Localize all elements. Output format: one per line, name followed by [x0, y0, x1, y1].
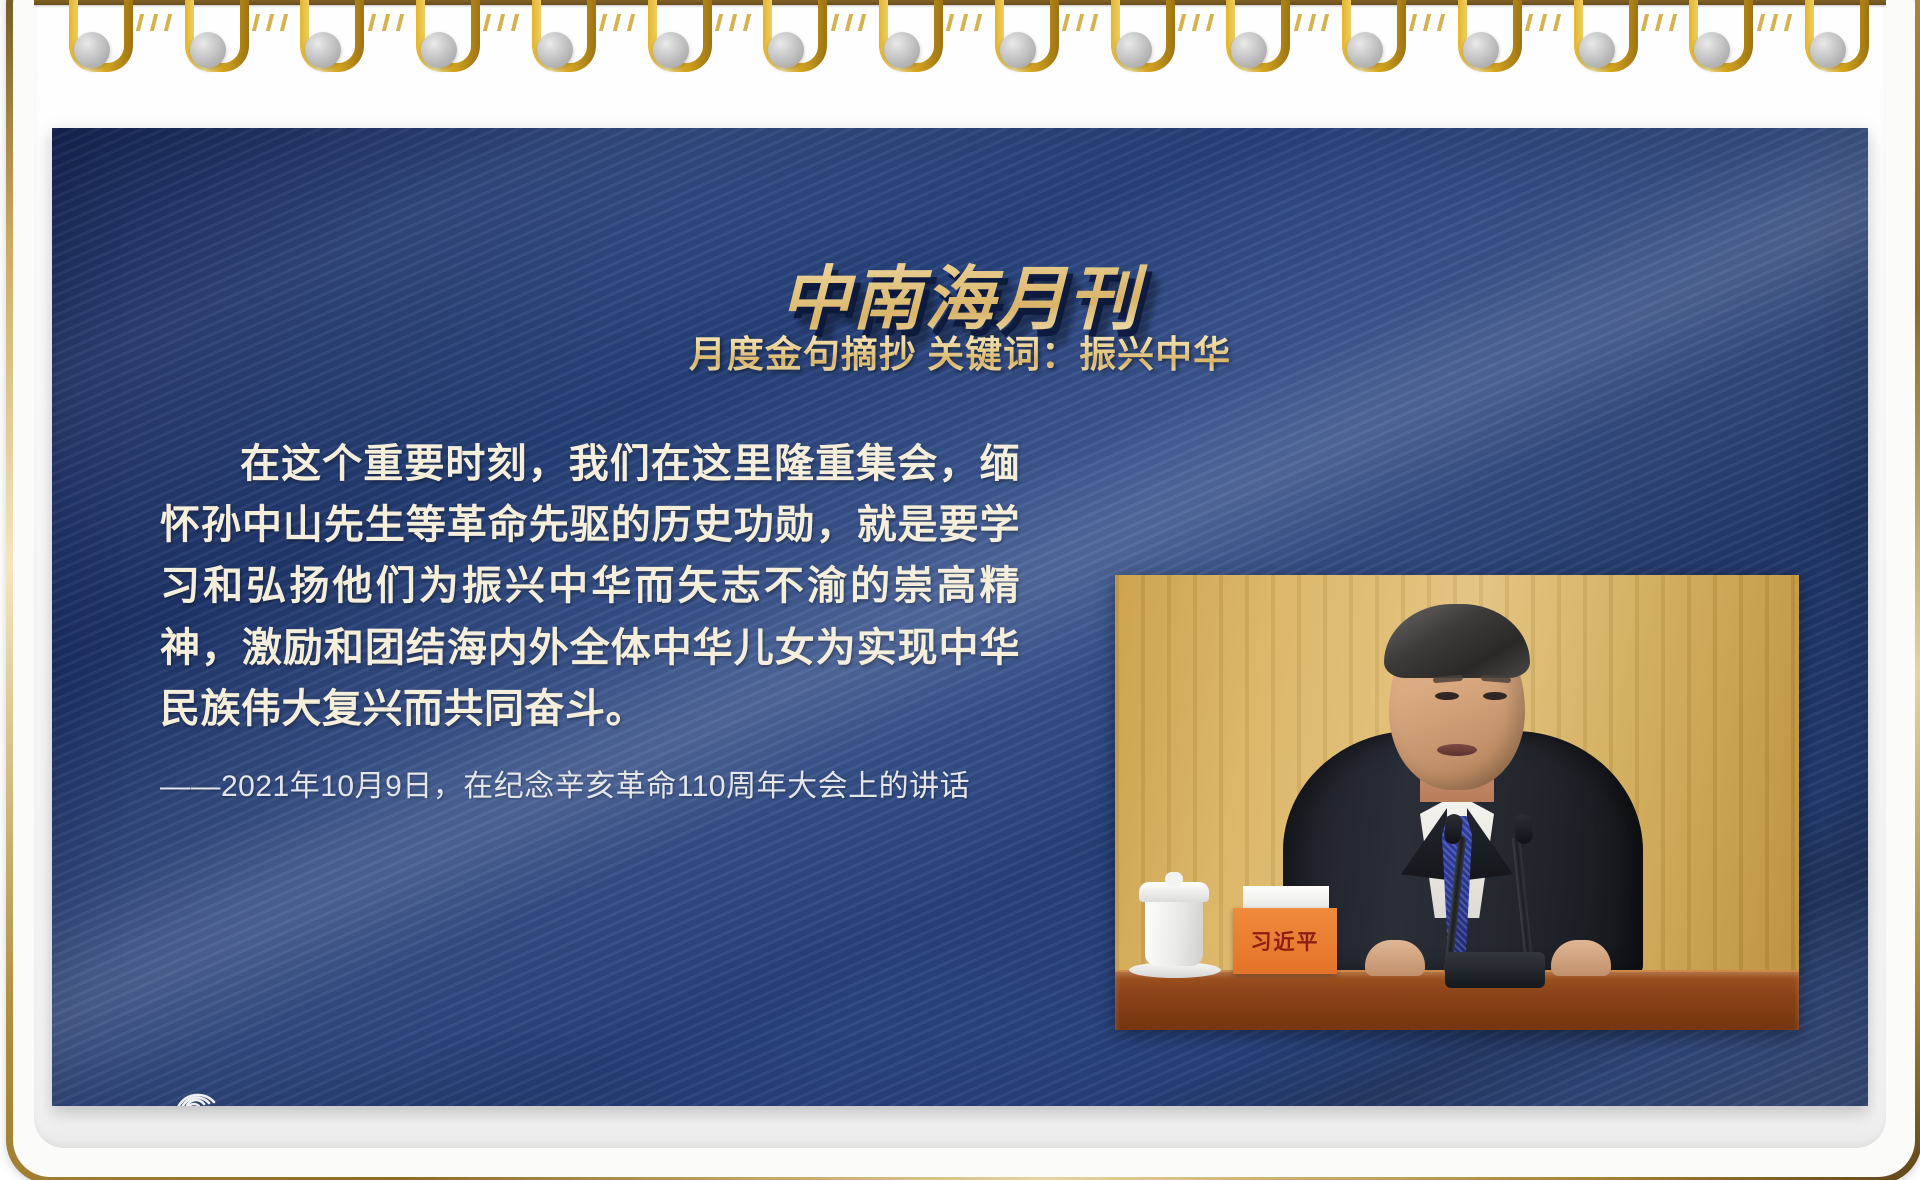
teacup — [1145, 894, 1203, 966]
nameplate-text: 习近平 — [1251, 926, 1320, 956]
teacup-knob — [1165, 872, 1183, 886]
content-card: 中南海月刊 月度金句摘抄 关键词：振兴中华 在这个重要时刻，我们在这里隆重集会，… — [52, 128, 1868, 1106]
subtitle: 月度金句摘抄 关键词：振兴中华 — [52, 324, 1868, 378]
magazine-page: 中南海月刊 月度金句摘抄 关键词：振兴中华 在这个重要时刻，我们在这里隆重集会，… — [0, 0, 1920, 1180]
speaker-mouth — [1437, 744, 1477, 756]
microphone-base — [1445, 952, 1545, 988]
tap-hand-icon[interactable] — [168, 1088, 232, 1106]
speaker-hand-right — [1551, 940, 1611, 976]
quote-text: 在这个重要时刻，我们在这里隆重集会，缅怀孙中山先生等革命先驱的历史功勋，就是要学… — [160, 433, 1020, 739]
quote-block: 在这个重要时刻，我们在这里隆重集会，缅怀孙中山先生等革命先驱的历史功勋，就是要学… — [160, 433, 1020, 808]
nameplate: 习近平 — [1233, 908, 1337, 974]
quote-attribution: ——2021年10月9日，在纪念辛亥革命110周年大会上的讲话 — [160, 765, 1020, 809]
microphone-right-head — [1513, 813, 1533, 845]
speaker-eye-right — [1483, 692, 1507, 700]
speaker-photo: 习近平 — [1115, 575, 1799, 1030]
speaker-hand-left — [1365, 940, 1425, 976]
speaker-eye-left — [1435, 692, 1459, 700]
